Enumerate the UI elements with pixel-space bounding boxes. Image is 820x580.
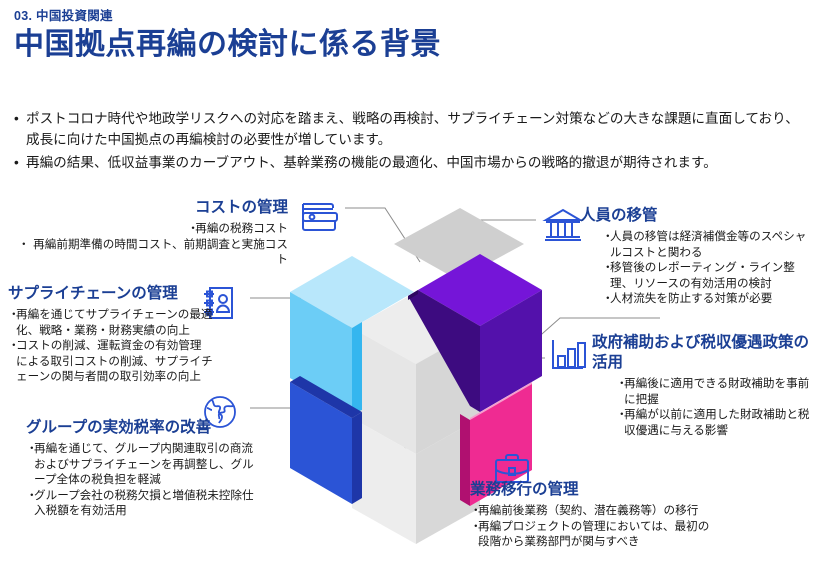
list-item-text: 再編後に適用できる財政補助を事前に把握 <box>624 376 820 407</box>
bullet-dot-icon: ・ <box>26 441 34 457</box>
bullet-dot-icon: ・ <box>602 260 610 276</box>
callout-body-personnel: ・ 人員の移管は経済補償金等のスペシャルコストと関わる ・ 移管後のレポーティン… <box>580 229 816 307</box>
callout-subsidy: 政府補助および税収優遇政策の活用 ・ 再編後に適用できる財政補助を事前に把握 ・… <box>592 333 820 438</box>
callout-title-business-transfer: 業務移行の管理 <box>470 480 720 500</box>
section-eyebrow: 03. 中国投資関連 <box>14 8 804 24</box>
list-item: ・ 再編後に適用できる財政補助を事前に把握 <box>616 376 820 407</box>
intro-bullet-item: • ポストコロナ時代や地政学リスクへの対応を踏まえ、戦略の再検討、サプライチェー… <box>14 108 810 150</box>
callout-title-personnel: 人員の移管 <box>580 206 816 226</box>
bullet-dot-icon: • <box>14 152 26 173</box>
callout-title-supply-chain: サプライチェーンの管理 <box>8 284 213 304</box>
list-item: ・ 人材流失を防止する対策が必要 <box>602 291 816 307</box>
callout-cost: コストの管理 ・ 再編の税務コスト ・ 再編前期準備の時間コスト、前期調査と実施… <box>18 198 288 268</box>
list-item-text: 人員の移管は経済補償金等のスペシャルコストと関わる <box>610 229 816 260</box>
page-title: 中国拠点再編の検討に係る背景 <box>14 26 804 64</box>
callout-group-tax: グループの実効税率の改善 ・ 再編を通じて、グループ内関連取引の商流およびサプラ… <box>26 418 256 519</box>
callout-body-supply-chain: ・ 再編を通じてサプライチェーンの最適化、戦略・業務・財務実績の向上 ・ コスト… <box>8 307 213 385</box>
bullet-dot-icon: ・ <box>616 407 624 423</box>
callout-title-subsidy: 政府補助および税収優遇政策の活用 <box>592 333 820 373</box>
list-item: ・ 人員の移管は経済補償金等のスペシャルコストと関わる <box>602 229 816 260</box>
list-item: ・ 再編前期準備の時間コスト、前期調査と実施コスト <box>18 237 288 268</box>
bar-chart-icon <box>548 337 588 373</box>
intro-bullet-item: • 再編の結果、低収益事業のカーブアウト、基幹業務の機能の最適化、中国市場からの… <box>14 152 810 173</box>
bank-icon <box>542 206 584 244</box>
bullet-dot-icon: ・ <box>18 237 26 253</box>
callout-business-transfer: 業務移行の管理 ・ 再編前後業務（契約、潜在義務等）の移行 ・ 再編プロジェクト… <box>470 480 720 550</box>
bullet-dot-icon: ・ <box>8 338 16 354</box>
callout-title-group-tax: グループの実効税率の改善 <box>26 418 256 438</box>
callout-body-subsidy: ・ 再編後に適用できる財政補助を事前に把握 ・ 再編が以前に適用した財政補助と税… <box>592 376 820 438</box>
callout-body-cost: ・ 再編の税務コスト ・ 再編前期準備の時間コスト、前期調査と実施コスト <box>18 221 288 268</box>
bullet-dot-icon: ・ <box>470 503 478 519</box>
list-item: ・ 再編が以前に適用した財政補助と税収優遇に与える影響 <box>616 407 820 438</box>
callout-body-group-tax: ・ 再編を通じて、グループ内関連取引の商流およびサプライチェーンを再調整し、グル… <box>26 441 256 519</box>
intro-bullet-list: • ポストコロナ時代や地政学リスクへの対応を踏まえ、戦略の再検討、サプライチェー… <box>14 108 810 175</box>
list-item-text: コストの削減、運転資金の有効管理による取引コストの削減、サプライチェーンの関与者… <box>16 338 213 385</box>
list-item: ・ 移管後のレポーティング・ライン整理、リソースの有効活用の検討 <box>602 260 816 291</box>
bullet-dot-icon: • <box>14 108 26 129</box>
list-item-text: グループ会社の税務欠損と増値税未控除仕入税額を有効活用 <box>34 488 256 519</box>
bullet-dot-icon: ・ <box>26 488 34 504</box>
list-item-text: 移管後のレポーティング・ライン整理、リソースの有効活用の検討 <box>610 260 816 291</box>
wallet-icon <box>298 198 340 238</box>
bullet-dot-icon: ・ <box>187 221 195 237</box>
list-item: ・ 再編前後業務（契約、潜在義務等）の移行 <box>470 503 720 519</box>
callout-supply-chain: サプライチェーンの管理 ・ 再編を通じてサプライチェーンの最適化、戦略・業務・財… <box>8 284 213 385</box>
list-item: ・ 再編を通じてサプライチェーンの最適化、戦略・業務・財務実績の向上 <box>8 307 213 338</box>
bullet-dot-icon: ・ <box>616 376 624 392</box>
bullet-dot-icon: ・ <box>470 519 478 535</box>
list-item-text: 再編前期準備の時間コスト、前期調査と実施コスト <box>26 237 288 268</box>
list-item-text: 再編が以前に適用した財政補助と税収優遇に与える影響 <box>624 407 820 438</box>
callout-title-cost: コストの管理 <box>18 198 288 218</box>
slide-header: 03. 中国投資関連 中国拠点再編の検討に係る背景 <box>14 8 804 64</box>
cube-diagram: コストの管理 ・ 再編の税務コスト ・ 再編前期準備の時間コスト、前期調査と実施… <box>0 178 820 580</box>
callout-personnel: 人員の移管 ・ 人員の移管は経済補償金等のスペシャルコストと関わる ・ 移管後の… <box>580 206 816 307</box>
bullet-dot-icon: ・ <box>602 291 610 307</box>
list-item-text: 再編プロジェクトの管理においては、最初の段階から業務部門が関与すべき <box>478 519 720 550</box>
intro-bullet-text: 再編の結果、低収益事業のカーブアウト、基幹業務の機能の最適化、中国市場からの戦略… <box>26 152 810 173</box>
bullet-dot-icon: ・ <box>8 307 16 323</box>
list-item: ・ グループ会社の税務欠損と増値税未控除仕入税額を有効活用 <box>26 488 256 519</box>
list-item-text: 再編を通じてサプライチェーンの最適化、戦略・業務・財務実績の向上 <box>16 307 213 338</box>
bullet-dot-icon: ・ <box>602 229 610 245</box>
list-item: ・ 再編の税務コスト <box>18 221 288 237</box>
list-item-text: 再編の税務コスト <box>195 221 288 237</box>
list-item: ・ 再編プロジェクトの管理においては、最初の段階から業務部門が関与すべき <box>470 519 720 550</box>
list-item-text: 再編前後業務（契約、潜在義務等）の移行 <box>478 503 720 519</box>
intro-bullet-text: ポストコロナ時代や地政学リスクへの対応を踏まえ、戦略の再検討、サプライチェーン対… <box>26 108 810 150</box>
callout-body-business-transfer: ・ 再編前後業務（契約、潜在義務等）の移行 ・ 再編プロジェクトの管理においては… <box>470 503 720 550</box>
list-item: ・ コストの削減、運転資金の有効管理による取引コストの削減、サプライチェーンの関… <box>8 338 213 385</box>
list-item-text: 人材流失を防止する対策が必要 <box>610 291 816 307</box>
list-item-text: 再編を通じて、グループ内関連取引の商流およびサプライチェーンを再調整し、グループ… <box>34 441 256 488</box>
list-item: ・ 再編を通じて、グループ内関連取引の商流およびサプライチェーンを再調整し、グル… <box>26 441 256 488</box>
